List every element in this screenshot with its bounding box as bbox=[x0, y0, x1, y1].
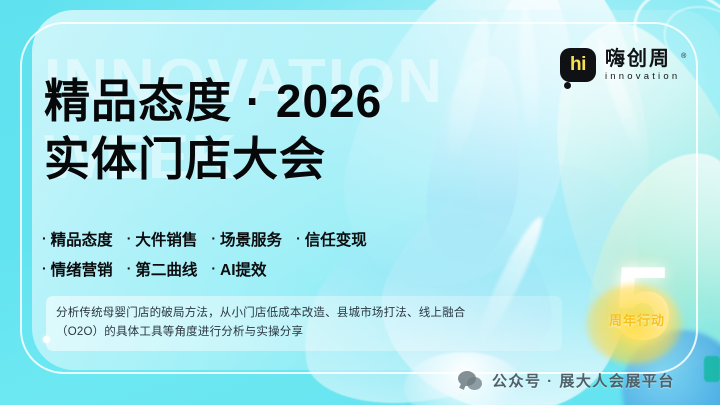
logo-mark-text: hi bbox=[570, 55, 586, 74]
registered-icon: ® bbox=[681, 46, 688, 68]
keyword-item: · 情绪营销 bbox=[42, 258, 113, 280]
headline-line-1: 精品态度 · 2026 bbox=[44, 72, 504, 130]
keyword-item: · 大件销售 bbox=[127, 228, 198, 250]
bullet-icon: · bbox=[211, 231, 216, 245]
hi-speech-bubble-icon: hi bbox=[560, 48, 596, 82]
keyword-item: · 第二曲线 bbox=[127, 258, 198, 280]
keyword-item: · AI提效 bbox=[211, 258, 266, 280]
bullet-icon: · bbox=[42, 231, 47, 245]
wechat-icon bbox=[458, 371, 484, 391]
brand-logo: hi 嗨创周 ® innovation bbox=[560, 48, 680, 82]
keyword-list: · 精品态度 · 大件销售 · 场景服务 · 信任变现 · 情绪营销 · bbox=[42, 228, 472, 288]
keyword-label: 精品态度 bbox=[51, 228, 113, 250]
footer-account-line: 公众号 · 展大人会展平台 bbox=[458, 370, 675, 391]
bullet-icon: · bbox=[211, 261, 216, 275]
bullet-icon: · bbox=[127, 231, 132, 245]
keyword-row: · 精品态度 · 大件销售 · 场景服务 · 信任变现 bbox=[42, 228, 472, 250]
page-title: 精品态度 · 2026 实体门店大会 bbox=[44, 72, 504, 188]
description-line-1: 分析传统母婴门店的破局方法，从小门店低成本改造、县城市场打法、线上融合 bbox=[56, 304, 552, 323]
wechat-bubble-small bbox=[467, 377, 482, 390]
logo-wordmark: 嗨创周 ® innovation bbox=[605, 48, 680, 82]
description-line-2: （O2O）的具体工具等角度进行分析与实操分享 bbox=[56, 323, 552, 342]
headline-line-2: 实体门店大会 bbox=[44, 130, 504, 188]
logo-name-en: innovation bbox=[605, 71, 680, 82]
footer-text: 公众号 · 展大人会展平台 bbox=[492, 370, 675, 391]
keyword-item: · 精品态度 bbox=[42, 228, 113, 250]
keyword-row: · 情绪营销 · 第二曲线 · AI提效 bbox=[42, 258, 472, 280]
keyword-item: · 信任变现 bbox=[296, 228, 367, 250]
anniversary-badge: 5 周年行动 bbox=[588, 258, 718, 376]
bullet-icon: · bbox=[127, 261, 132, 275]
keyword-label: 大件销售 bbox=[135, 228, 197, 250]
keyword-label: 场景服务 bbox=[220, 228, 282, 250]
keyword-item: · 场景服务 bbox=[211, 228, 282, 250]
poster-canvas: INNOVATION WEEK 精品态度 · 2026 实体门店大会 · 精品态… bbox=[0, 0, 720, 405]
keyword-label: AI提效 bbox=[220, 258, 267, 280]
logo-name-cn-text: 嗨创周 bbox=[605, 48, 671, 70]
bullet-icon: · bbox=[42, 261, 47, 275]
anniversary-label: 周年行动 bbox=[594, 310, 680, 329]
splash-streak bbox=[515, 8, 542, 139]
keyword-label: 信任变现 bbox=[305, 228, 367, 250]
logo-name-cn: 嗨创周 ® bbox=[605, 48, 680, 70]
keyword-label: 第二曲线 bbox=[135, 258, 197, 280]
bullet-icon: · bbox=[296, 231, 301, 245]
description-panel: 分析传统母婴门店的破局方法，从小门店低成本改造、县城市场打法、线上融合 （O2O… bbox=[46, 296, 562, 351]
keyword-label: 情绪营销 bbox=[51, 258, 113, 280]
